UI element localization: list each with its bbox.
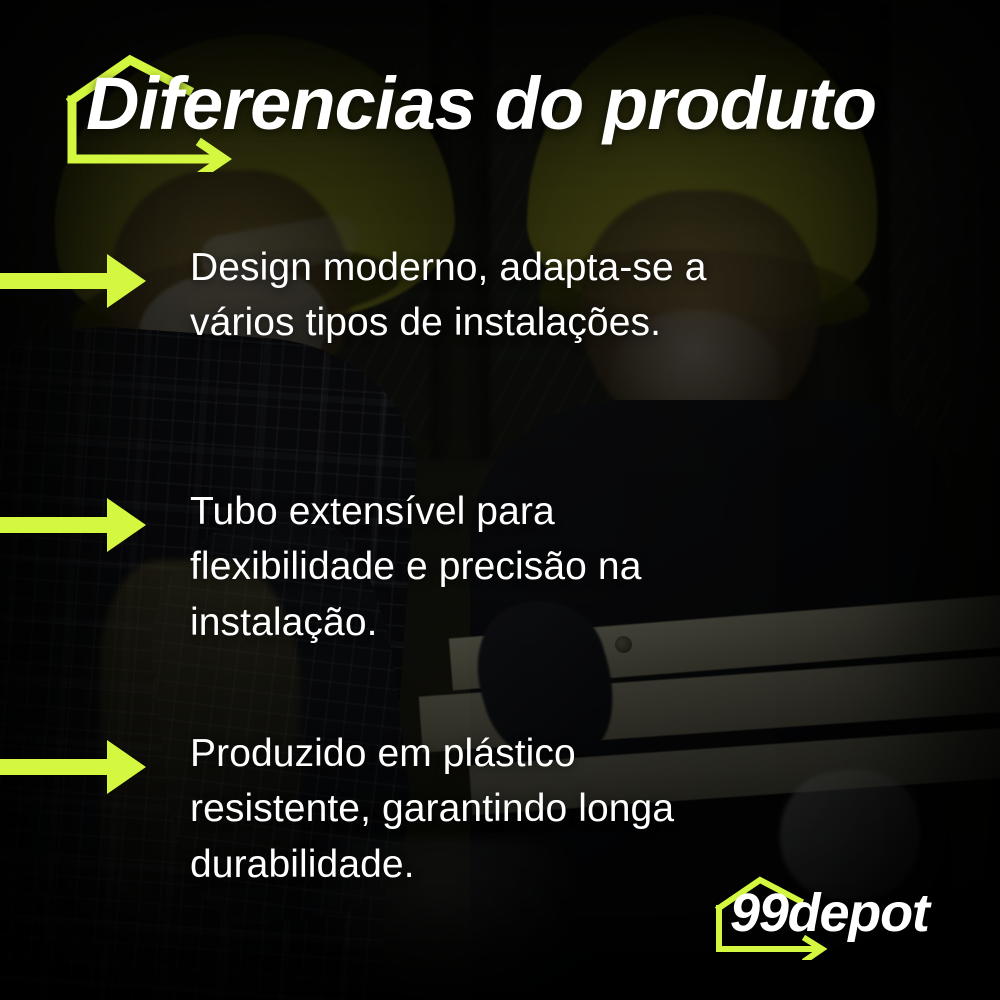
bullet-line: Produzido em plástico: [190, 726, 830, 781]
brand-logo: 99depot: [712, 874, 948, 960]
arrow-right-icon: [0, 736, 148, 798]
bullet-line: Design moderno, adapta-se a: [190, 240, 830, 295]
bullet-line: instalação.: [190, 595, 830, 650]
title-block: Diferencias do produto: [64, 52, 944, 172]
bullet-line: resistente, garantindo longa: [190, 781, 830, 836]
feature-bullet-1-text: Design moderno, adapta-se a vários tipos…: [190, 240, 830, 351]
brand-logo-text: 99depot: [730, 886, 929, 940]
bullet-line: flexibilidade e precisão na: [190, 539, 830, 594]
poster-canvas: Diferencias do produto Design moderno, a…: [0, 0, 1000, 1000]
bullet-line: Tubo extensível para: [190, 484, 830, 539]
arrow-right-icon: [0, 250, 148, 312]
feature-bullet-2-text: Tubo extensível para flexibilidade e pre…: [190, 484, 830, 650]
arrow-right-icon: [0, 494, 148, 556]
page-title: Diferencias do produto: [86, 58, 876, 151]
bullet-line: vários tipos de instalações.: [190, 295, 830, 350]
poster-content: Diferencias do produto Design moderno, a…: [0, 0, 1000, 1000]
feature-bullet-3-text: Produzido em plástico resistente, garant…: [190, 726, 830, 892]
